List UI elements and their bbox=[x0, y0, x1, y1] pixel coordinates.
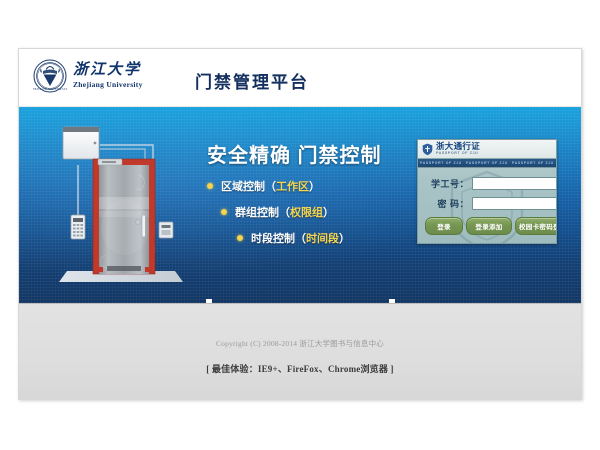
copyright-text: Copyright (C) 2008-2014 浙江大学图书与信息中心 bbox=[19, 338, 581, 349]
page-title: 门禁管理平台 bbox=[195, 68, 309, 93]
hero-feature-label: 群组控制（ bbox=[235, 204, 290, 220]
userid-input[interactable] bbox=[472, 177, 557, 190]
passport-title-block: 浙大通行证 PASSPORT OF ZJU bbox=[436, 142, 480, 156]
page-card: ZHEJIANG UNIVERSITY 浙江大学 Zhejiang Univer… bbox=[18, 48, 582, 400]
password-label: 密 码： bbox=[425, 197, 472, 210]
passport-title-en: PASSPORT OF ZJU bbox=[436, 152, 480, 156]
ribbon-word: PASSPORT OF ZJU bbox=[466, 161, 508, 165]
field-row-userid: 学工号： bbox=[425, 177, 549, 190]
university-wordmark: 浙江大学 Zhejiang University bbox=[73, 63, 143, 89]
ribbon-word: PASSPORT OF ZJU bbox=[512, 161, 554, 165]
zju-seal-icon: ZHEJIANG UNIVERSITY bbox=[33, 59, 67, 93]
hero-feature-tail: ） bbox=[339, 230, 350, 246]
door-access-control-icon bbox=[41, 119, 201, 297]
login-add-button[interactable]: 登录添加 bbox=[466, 217, 512, 235]
campus-card-login-button[interactable]: 校园卡密码登录 bbox=[515, 217, 557, 235]
browser-recommendation-text: [ 最佳体验：IE9+、FireFox、Chrome浏览器 ] bbox=[19, 362, 581, 375]
hero-feature-label: 区域控制（ bbox=[221, 178, 276, 194]
login-panel-header: 浙大通行证 PASSPORT OF ZJU bbox=[418, 140, 556, 159]
hero-feature-label: 时段控制（ bbox=[251, 230, 306, 246]
passport-title-cn: 浙大通行证 bbox=[436, 142, 480, 151]
hero-feature-tail: ） bbox=[323, 204, 334, 220]
ribbon-word: PASSPORT OF ZJU bbox=[420, 161, 462, 165]
shield-icon bbox=[422, 143, 433, 156]
login-form: 学工号： 密 码： 登录 登录添加 校园卡密码登录 bbox=[418, 168, 556, 243]
login-button-row: 登录 登录添加 校园卡密码登录 bbox=[425, 217, 549, 235]
login-button[interactable]: 登录 bbox=[425, 217, 463, 235]
userid-label: 学工号： bbox=[425, 177, 472, 190]
hero-feature-emphasis: 权限组 bbox=[290, 204, 323, 220]
hero-copy: 安全精确 门禁控制 区域控制（ 工作区 ） 群组控制（ 权限组 ） 时段控制（ … bbox=[207, 139, 422, 246]
hero-headline: 安全精确 门禁控制 bbox=[207, 139, 422, 168]
university-logo[interactable]: ZHEJIANG UNIVERSITY 浙江大学 Zhejiang Univer… bbox=[33, 59, 143, 93]
login-panel: 浙大通行证 PASSPORT OF ZJU PASSPORT OF ZJU PA… bbox=[417, 139, 557, 244]
hero-feature-emphasis: 时间段 bbox=[306, 230, 339, 246]
password-input[interactable] bbox=[472, 197, 557, 210]
site-footer: Copyright (C) 2008-2014 浙江大学图书与信息中心 [ 最佳… bbox=[19, 303, 581, 400]
hero-feature-item: 时段控制（ 时间段 ） bbox=[237, 230, 422, 246]
hero-feature-emphasis: 工作区 bbox=[276, 178, 309, 194]
university-name-en: Zhejiang University bbox=[73, 81, 143, 89]
bullet-dot-icon bbox=[207, 183, 213, 189]
university-name-cn: 浙江大学 bbox=[73, 63, 141, 78]
hero-feature-item: 区域控制（ 工作区 ） bbox=[207, 178, 422, 194]
passport-ribbon: PASSPORT OF ZJU PASSPORT OF ZJU PASSPORT… bbox=[418, 159, 556, 168]
hero-banner: 安全精确 门禁控制 区域控制（ 工作区 ） 群组控制（ 权限组 ） 时段控制（ … bbox=[19, 107, 581, 303]
hero-feature-tail: ） bbox=[309, 178, 320, 194]
site-header: ZHEJIANG UNIVERSITY 浙江大学 Zhejiang Univer… bbox=[19, 49, 581, 107]
bullet-dot-icon bbox=[237, 235, 243, 241]
field-row-password: 密 码： bbox=[425, 197, 549, 210]
bullet-dot-icon bbox=[221, 209, 227, 215]
svg-text:ZHEJIANG UNIVERSITY: ZHEJIANG UNIVERSITY bbox=[33, 87, 67, 91]
hero-feature-item: 群组控制（ 权限组 ） bbox=[221, 204, 422, 220]
